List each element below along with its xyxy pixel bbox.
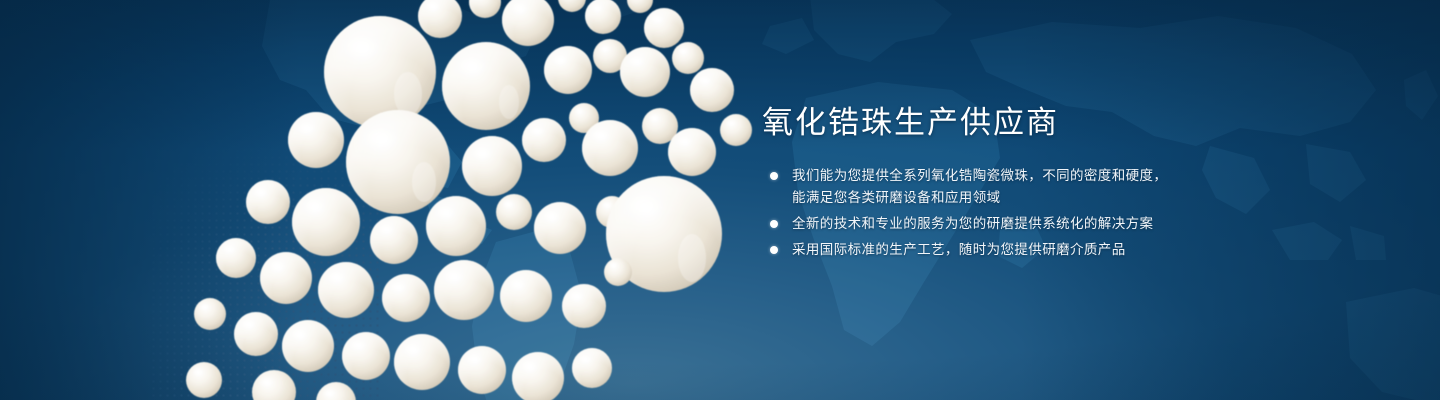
bullet-dot-icon — [770, 172, 778, 180]
banner-headline: 氧化锆珠生产供应商 — [762, 104, 1232, 143]
benefit-item-1-line-1: 我们能为您提供全系列氧化锆陶瓷微珠，不同的密度和硬度， — [792, 165, 1232, 187]
benefit-item-2-line-1: 全新的技术和专业的服务为您的研磨提供系统化的解决方案 — [792, 213, 1232, 235]
benefit-list: 我们能为您提供全系列氧化锆陶瓷微珠，不同的密度和硬度， 能满足您各类研磨设备和应… — [762, 165, 1232, 261]
promo-banner: 氧化锆珠生产供应商 我们能为您提供全系列氧化锆陶瓷微珠，不同的密度和硬度， 能满… — [0, 0, 1440, 400]
banner-copy: 氧化锆珠生产供应商 我们能为您提供全系列氧化锆陶瓷微珠，不同的密度和硬度， 能满… — [762, 104, 1232, 261]
benefit-item-3-line-1: 采用国际标准的生产工艺，随时为您提供研磨介质产品 — [792, 239, 1232, 261]
benefit-item-1-line-2: 能满足您各类研磨设备和应用领域 — [792, 187, 1232, 209]
bullet-dot-icon — [770, 220, 778, 228]
benefit-item-3: 采用国际标准的生产工艺，随时为您提供研磨介质产品 — [762, 239, 1232, 261]
benefit-item-2: 全新的技术和专业的服务为您的研磨提供系统化的解决方案 — [762, 213, 1232, 235]
zirconia-beads-image — [140, 0, 760, 400]
benefit-item-1: 我们能为您提供全系列氧化锆陶瓷微珠，不同的密度和硬度， 能满足您各类研磨设备和应… — [762, 165, 1232, 209]
bullet-dot-icon — [770, 246, 778, 254]
